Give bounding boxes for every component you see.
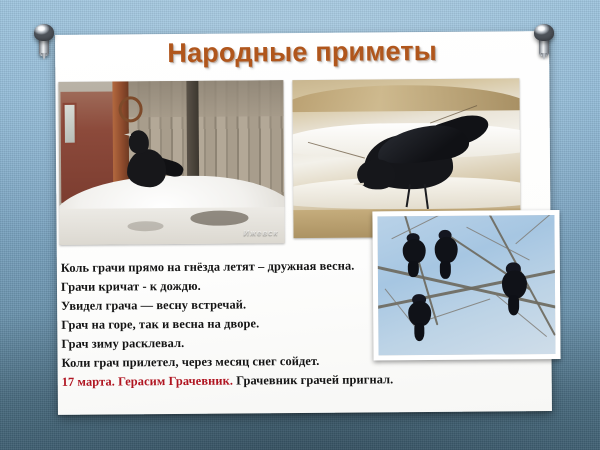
proverb-text: Увидел грача — весну встречай. bbox=[61, 297, 246, 312]
pushpin-highlight bbox=[38, 26, 45, 31]
photo-rook-on-snow: Ижевск bbox=[58, 80, 284, 245]
photo3-rook bbox=[434, 230, 457, 264]
photo3-rook bbox=[502, 262, 527, 298]
top-left-pushpin[interactable] bbox=[31, 24, 57, 58]
slide-canvas: Народные приметы bbox=[0, 0, 600, 450]
photo-rooks-in-tree bbox=[372, 210, 560, 360]
pushpin-highlight bbox=[538, 26, 545, 31]
photo2-rook-wing bbox=[375, 121, 470, 168]
proverb-text: Грачевник грачей пригнал. bbox=[233, 372, 393, 387]
photo1-rook bbox=[126, 130, 180, 189]
photo2-rook-head bbox=[357, 159, 395, 189]
photo3-rook bbox=[408, 294, 431, 326]
photo1-metal-ring bbox=[118, 96, 142, 122]
page-title: Народные приметы bbox=[55, 35, 549, 70]
proverb-line-highlight: 17 марта. Герасим Грачевник. Грачевник г… bbox=[62, 370, 442, 392]
proverb-text: Грач зиму расклевал. bbox=[61, 336, 184, 351]
photo1-watermark: Ижевск bbox=[243, 228, 278, 237]
photo1-rook-head bbox=[128, 130, 149, 154]
paper-card: Народные приметы bbox=[55, 31, 552, 415]
proverb-text: Грач на горе, так и весна на дворе. bbox=[61, 316, 259, 332]
photo1-dirt-patch bbox=[127, 221, 163, 231]
photo1-snow-ground bbox=[58, 207, 284, 245]
top-right-pushpin[interactable] bbox=[531, 24, 557, 58]
proverb-date-accent: 17 марта. Герасим Грачевник. bbox=[62, 374, 233, 389]
photo2-rook bbox=[356, 120, 484, 209]
photo1-door-window bbox=[62, 103, 76, 145]
photo3-rook bbox=[402, 233, 425, 264]
proverb-text: Грачи кричат - к дождю. bbox=[61, 279, 201, 294]
proverb-text: Коли грач прилетел, через месяц снег сой… bbox=[62, 354, 320, 370]
photo1-rook-body bbox=[126, 149, 166, 188]
proverb-text: Коль грачи прямо на гнёзда летят – дружн… bbox=[61, 259, 355, 275]
